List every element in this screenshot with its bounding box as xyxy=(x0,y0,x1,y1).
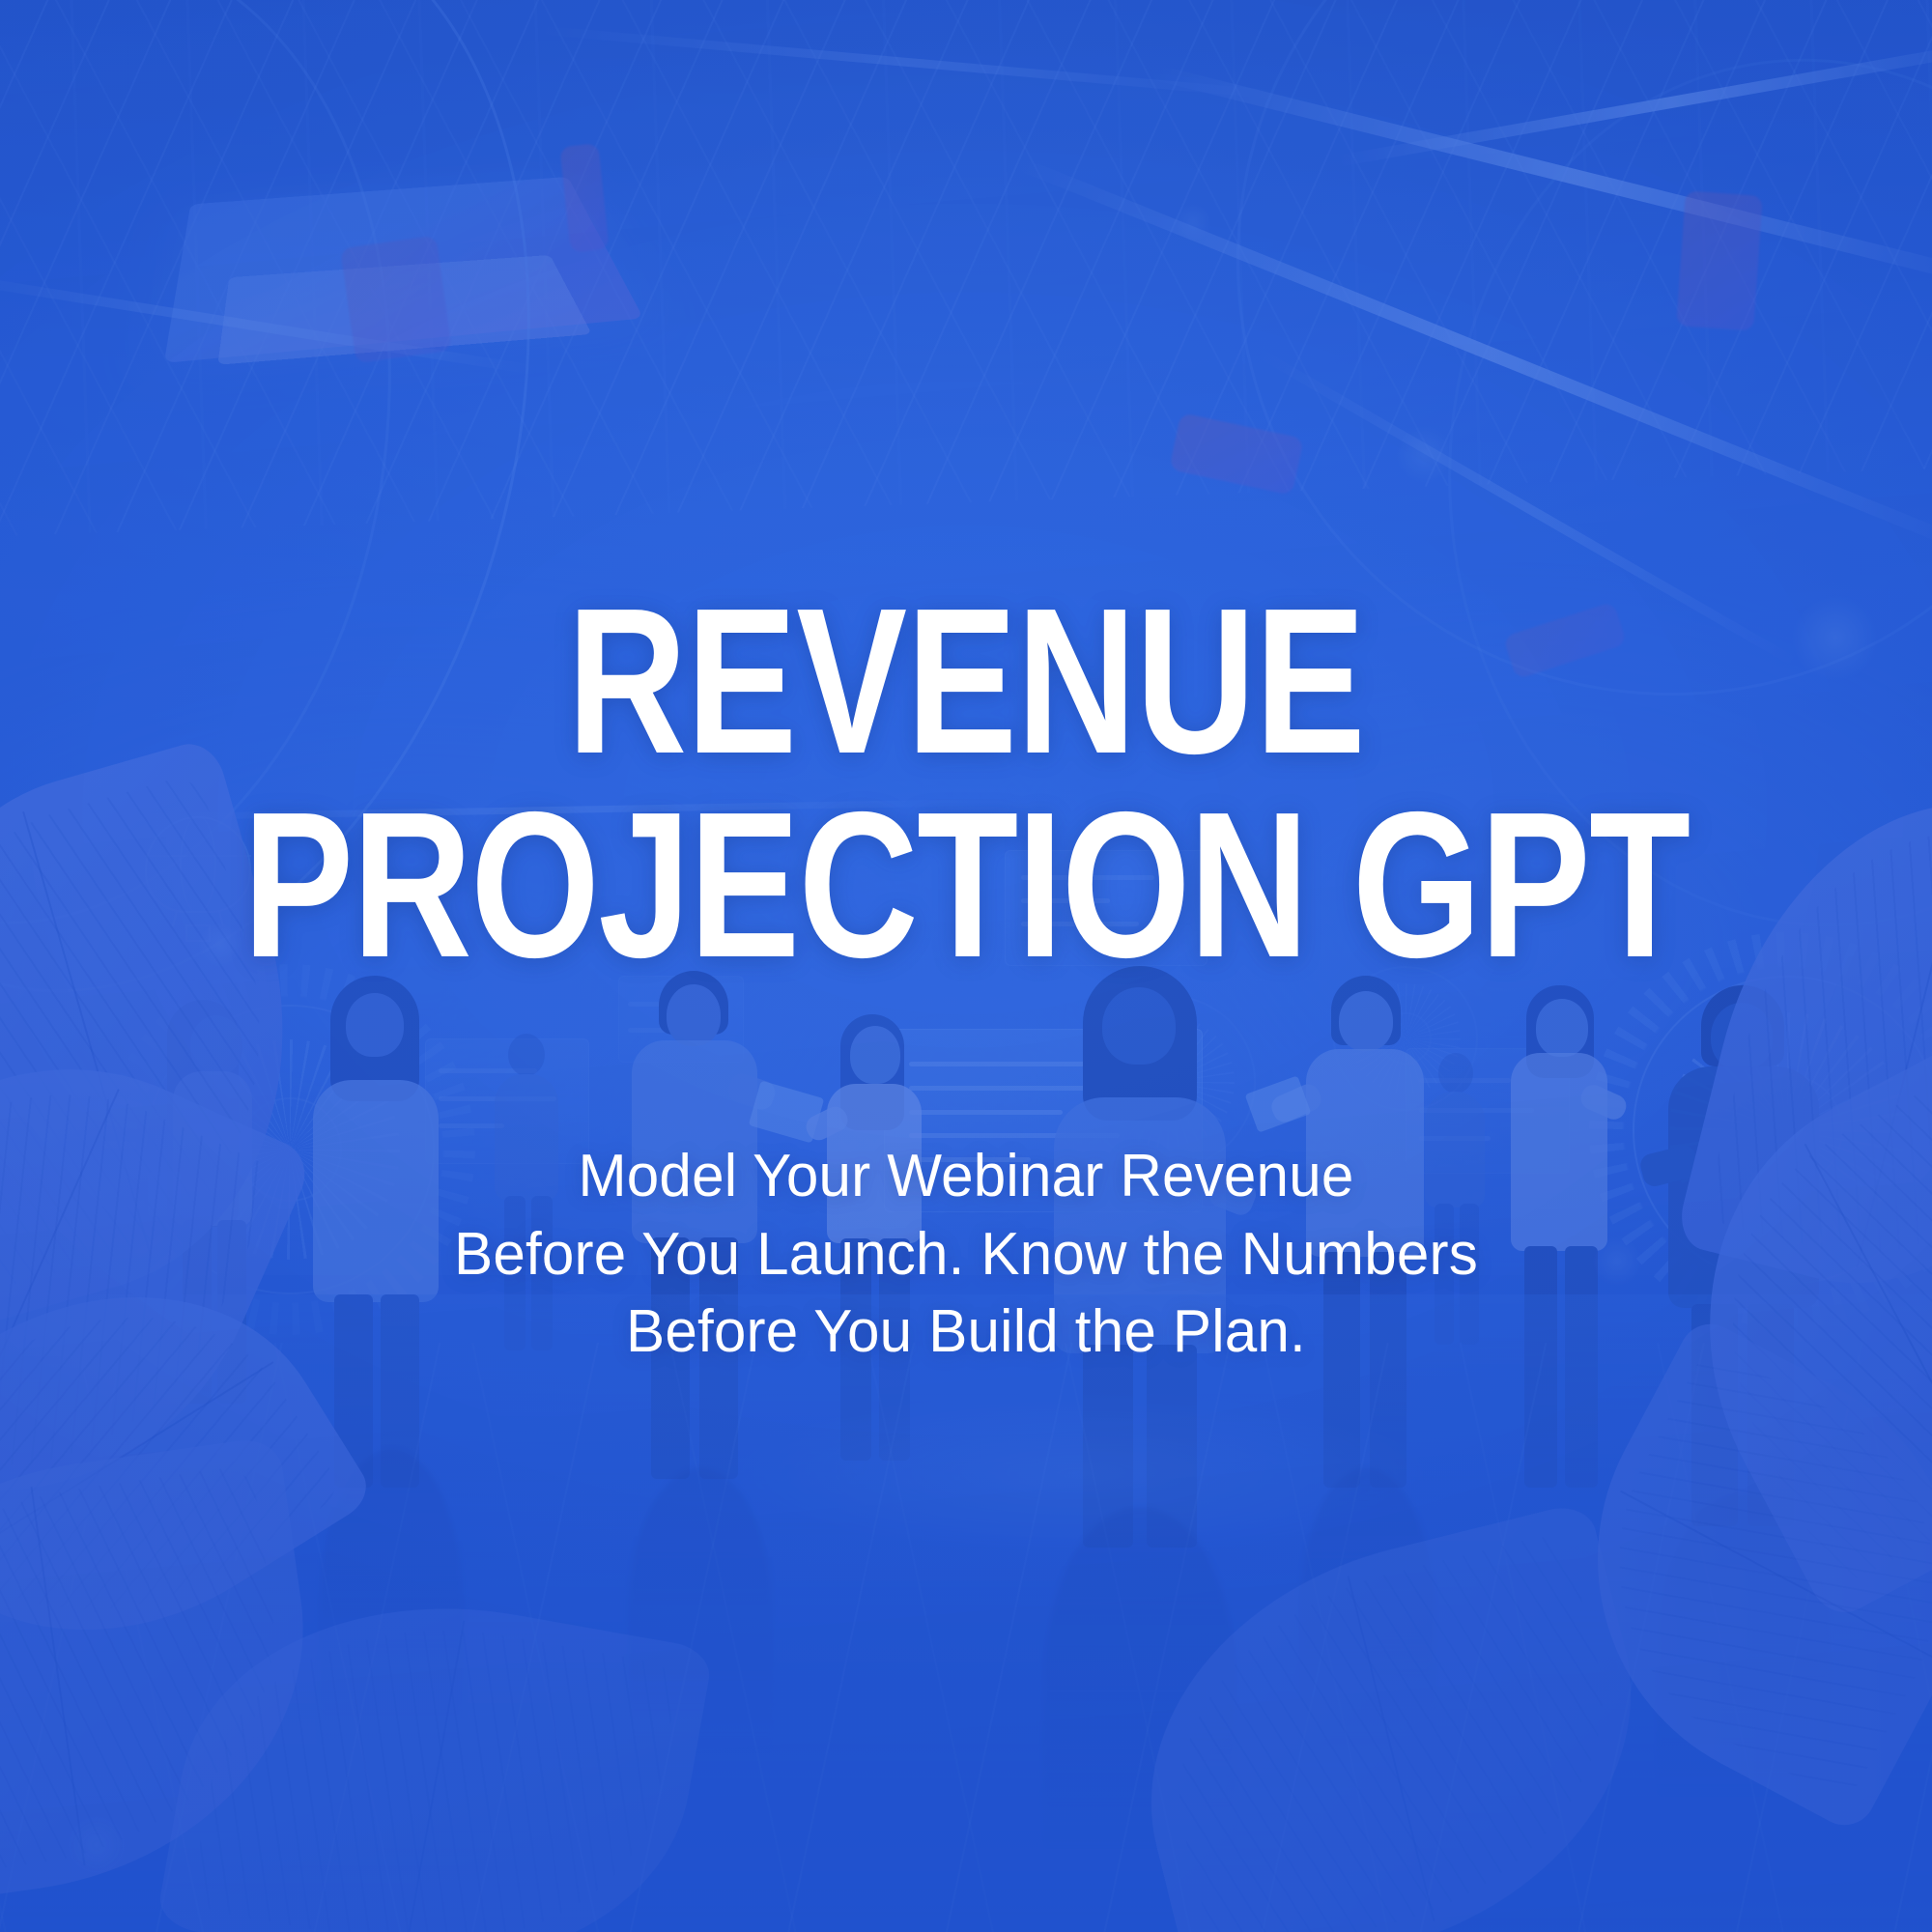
headline-line-2: PROJECTION GPT xyxy=(193,783,1739,987)
page-title: REVENUE PROJECTION GPT xyxy=(193,580,1739,986)
subtitle-line-1: Model Your Webinar Revenue xyxy=(29,1138,1903,1216)
headline-line-1: REVENUE xyxy=(193,580,1739,783)
subtitle-line-3: Before You Build the Plan. xyxy=(29,1293,1903,1372)
page-subtitle: Model Your Webinar Revenue Before You La… xyxy=(29,1138,1903,1372)
poster-content: REVENUE PROJECTION GPT Model Your Webina… xyxy=(0,0,1932,1932)
poster-canvas: REVENUE PROJECTION GPT Model Your Webina… xyxy=(0,0,1932,1932)
subtitle-line-2: Before You Launch. Know the Numbers xyxy=(29,1216,1903,1294)
